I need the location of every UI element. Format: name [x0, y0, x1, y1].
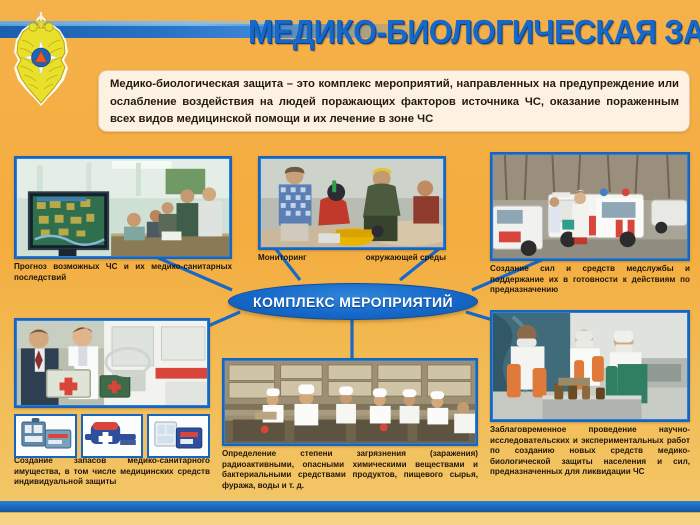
photo-divers-boat — [261, 159, 443, 247]
card-monitoring[interactable]: Мониторинг окружающей среды — [258, 156, 446, 262]
bottom-accent-bar — [0, 501, 700, 512]
intro-textbox: Медико-биологическая защита – это компле… — [98, 70, 690, 132]
caption-supplies: Создание запасов медико-санитарного имущ… — [14, 456, 210, 488]
caption-monitoring: Мониторинг окружающей среды — [258, 253, 446, 262]
photo-food-lab-inspection — [225, 361, 475, 443]
card-contamination[interactable]: Определение степени загрязнения (заражен… — [222, 358, 478, 491]
inset-first-aid-belt-bag — [81, 414, 144, 458]
photo-frame-forecast — [14, 156, 232, 259]
photo-situation-room — [17, 159, 229, 256]
inset-emergency-kit-case — [147, 414, 210, 458]
photo-frame-monitoring — [258, 156, 446, 250]
intro-text: Медико-биологическая защита – это компле… — [110, 76, 679, 129]
photo-frame-research — [490, 310, 690, 422]
page-title: МЕДИКО-БИОЛОГИЧЕСКАЯ ЗАЩИТА — [248, 10, 664, 56]
photo-research-lab — [493, 313, 687, 419]
center-node-label: КОМПЛЕКС МЕРОПРИЯТИЙ — [253, 294, 453, 310]
caption-monitoring-right: окружающей среды — [366, 253, 446, 262]
caption-monitoring-left: Мониторинг — [258, 253, 307, 262]
photo-ambulance-fleet — [493, 155, 687, 258]
bottom-edge-line — [0, 512, 700, 513]
bottom-tint-strip — [0, 512, 700, 525]
photo-frame-contamination — [222, 358, 478, 446]
photo-frame-supplies — [14, 318, 210, 408]
card-forecast[interactable]: Прогноз возможных ЧС и их медико-санитар… — [14, 156, 232, 283]
inset-kit-row — [14, 414, 210, 458]
inset-medical-case-open — [14, 414, 77, 458]
poster-header: МЕДИКО-БИОЛОГИЧЕСКАЯ ЗАЩИТА — [0, 0, 700, 60]
caption-medical-forces: Создание сил и средств медслужбы и подде… — [490, 264, 690, 296]
caption-research: Заблаговременное проведение научно-иссле… — [490, 425, 690, 478]
caption-forecast: Прогноз возможных ЧС и их медико-санитар… — [14, 262, 232, 283]
card-supplies[interactable]: Создание запасов медико-санитарного имущ… — [14, 318, 210, 488]
card-research[interactable]: Заблаговременное проведение научно-иссле… — [490, 310, 690, 478]
emercom-emblem-icon — [8, 10, 74, 110]
center-node: КОМПЛЕКС МЕРОПРИЯТИЙ — [228, 283, 478, 320]
photo-kit-handover — [17, 321, 207, 405]
card-medical-forces[interactable]: Создание сил и средств медслужбы и подде… — [490, 152, 690, 296]
photo-frame-medical-forces — [490, 152, 690, 261]
caption-contamination: Определение степени загрязнения (заражен… — [222, 449, 478, 491]
poster-canvas: МЕДИКО-БИОЛОГИЧЕСКАЯ ЗАЩИТА — [0, 0, 700, 525]
